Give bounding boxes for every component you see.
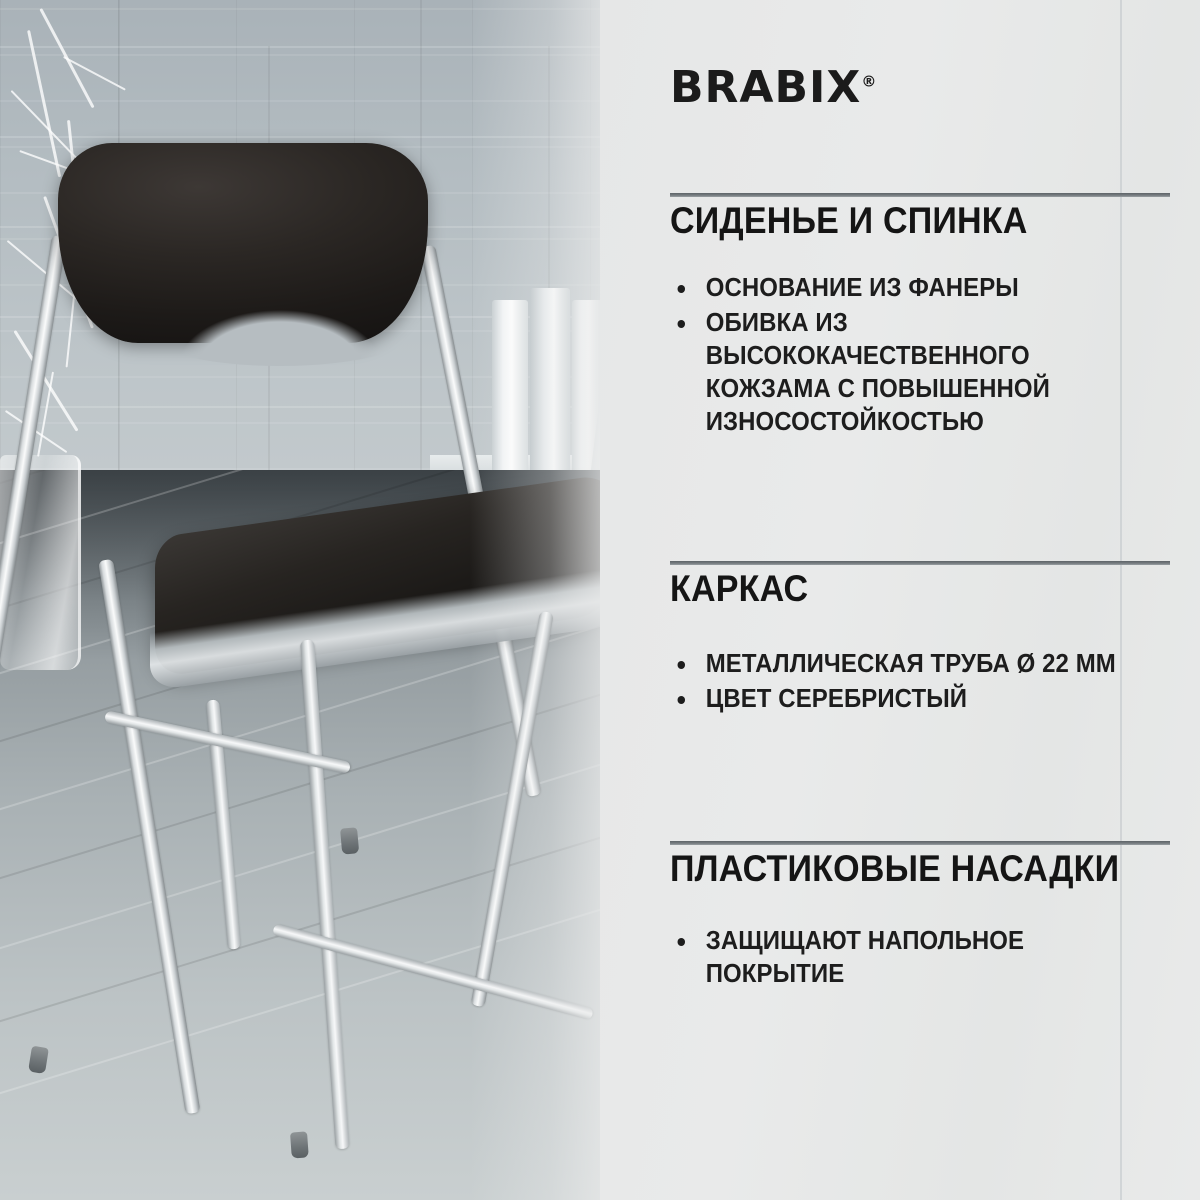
bullet-dot-icon bbox=[678, 285, 686, 293]
section-title-3: ПЛАСТИКОВЫЕ НАСАДКИ bbox=[670, 848, 1119, 890]
section-divider-2 bbox=[670, 561, 1170, 565]
section-title-1: СИДЕНЬЕ И СПИНКА bbox=[670, 200, 1028, 242]
plastic-foot-cap bbox=[28, 1046, 49, 1074]
bullet-dot-icon bbox=[678, 938, 686, 946]
section-title-2: КАРКАС bbox=[670, 568, 808, 610]
bullet-text: ЦВЕТ СЕРЕБРИСТЫЙ bbox=[706, 685, 967, 713]
bullet-dot-icon bbox=[678, 661, 686, 669]
backrest-lower-gap bbox=[135, 286, 425, 366]
section-bullets-1: ОСНОВАНИЕ ИЗ ФАНЕРЫ ОБИВКА ИЗ ВЫСОКОКАЧЕ… bbox=[670, 272, 1190, 441]
chair-cross-brace-lower bbox=[272, 923, 594, 1020]
section-bullets-2: МЕТАЛЛИЧЕСКАЯ ТРУБА Ø 22 ММ ЦВЕТ СЕРЕБРИ… bbox=[670, 648, 1190, 718]
folding-chair bbox=[0, 0, 660, 1200]
bullet-text: МЕТАЛЛИЧЕСКАЯ ТРУБА Ø 22 ММ bbox=[706, 650, 1116, 678]
brand-name: BRABIX bbox=[670, 62, 861, 113]
list-item: ЗАЩИЩАЮТ НАПОЛЬНОЕ ПОКРЫТИЕ bbox=[670, 925, 1159, 991]
section-bullets-3: ЗАЩИЩАЮТ НАПОЛЬНОЕ ПОКРЫТИЕ bbox=[670, 925, 1190, 993]
plastic-foot-cap bbox=[340, 827, 359, 854]
brand-logo: BRABIX® bbox=[670, 62, 876, 113]
product-photo bbox=[0, 0, 660, 1200]
chair-frame-tube-front-center bbox=[300, 640, 350, 1150]
section-divider-1 bbox=[670, 193, 1170, 197]
bullet-text: ОБИВКА ИЗ ВЫСОКОКАЧЕСТВЕННОГО КОЖЗАМА С … bbox=[706, 309, 1050, 436]
specs-panel: BRABIX® СИДЕНЬЕ И СПИНКА ОСНОВАНИЕ ИЗ ФА… bbox=[600, 0, 1200, 1200]
chair-frame-tube-back-left bbox=[0, 235, 67, 939]
list-item: ЦВЕТ СЕРЕБРИСТЫЙ bbox=[670, 683, 1159, 716]
registered-trademark-icon: ® bbox=[861, 72, 876, 90]
bullet-dot-icon bbox=[678, 320, 686, 328]
bullet-text: ЗАЩИЩАЮТ НАПОЛЬНОЕ ПОКРЫТИЕ bbox=[706, 927, 1024, 988]
bullet-dot-icon bbox=[678, 696, 686, 704]
bullet-text: ОСНОВАНИЕ ИЗ ФАНЕРЫ bbox=[706, 274, 1019, 302]
section-divider-3 bbox=[670, 841, 1170, 845]
list-item: МЕТАЛЛИЧЕСКАЯ ТРУБА Ø 22 ММ bbox=[670, 648, 1159, 681]
list-item: ОСНОВАНИЕ ИЗ ФАНЕРЫ bbox=[670, 272, 1159, 305]
plastic-foot-cap bbox=[290, 1131, 309, 1158]
product-infographic-card: BRABIX® СИДЕНЬЕ И СПИНКА ОСНОВАНИЕ ИЗ ФА… bbox=[0, 0, 1200, 1200]
list-item: ОБИВКА ИЗ ВЫСОКОКАЧЕСТВЕННОГО КОЖЗАМА С … bbox=[670, 307, 1159, 439]
